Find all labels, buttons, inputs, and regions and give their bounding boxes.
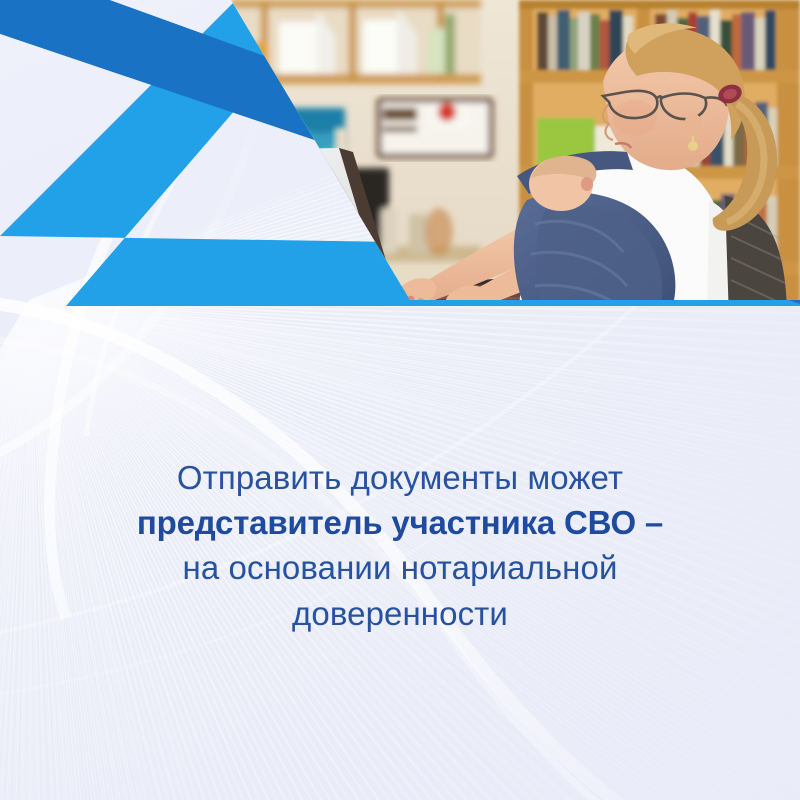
headline-line-4: доверенности <box>40 591 760 636</box>
headline-line-3: на основании нотариальной <box>40 545 760 590</box>
headline-text: Отправить документы может представитель … <box>0 455 800 636</box>
headline-line-1: Отправить документы может <box>40 455 760 500</box>
headline-line-2: представитель участника СВО – <box>40 500 760 545</box>
infographic-card: Отправить документы может представитель … <box>0 0 800 800</box>
